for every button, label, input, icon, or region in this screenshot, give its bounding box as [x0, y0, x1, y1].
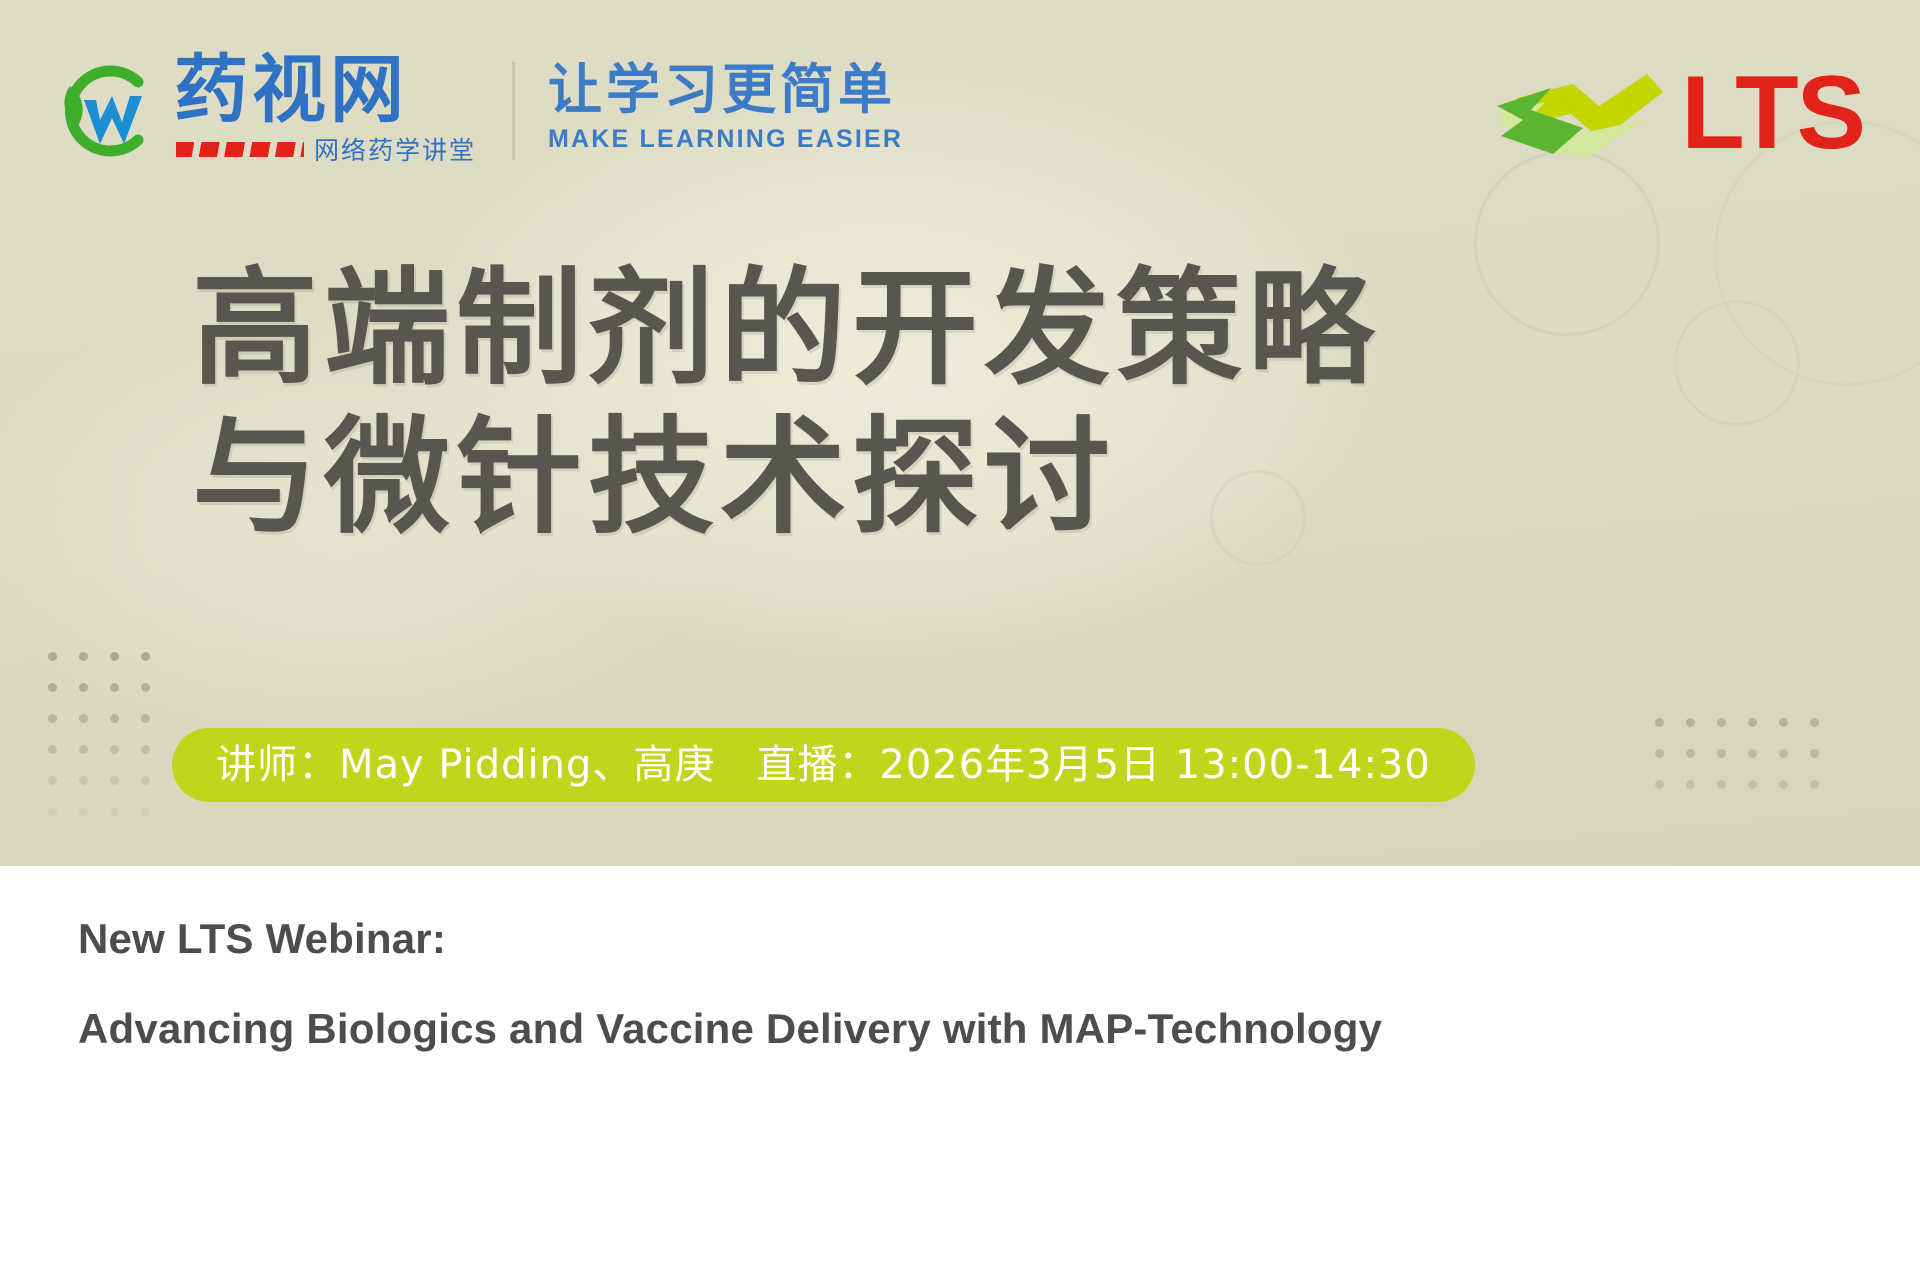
red-bars-icon	[176, 142, 304, 157]
banner-header: 药视网 网络药学讲堂 让学习更简单 MAKE LEARNING EASIER	[0, 0, 1920, 200]
site-subtitle-cn: 网络药学讲堂	[314, 131, 476, 167]
banner-title-block: 高端制剂的开发策略 与微针技术探讨	[192, 255, 1380, 552]
banner-title-line-2: 与微针技术探讨	[192, 404, 1380, 553]
caption-title: Advancing Biologics and Vaccine Delivery…	[78, 1004, 1842, 1054]
webinar-banner: 药视网 网络药学讲堂 让学习更简单 MAKE LEARNING EASIER	[0, 0, 1920, 866]
lts-chevron-leaves-icon	[1495, 58, 1665, 168]
site-name-block: 药视网 网络药学讲堂	[174, 55, 476, 167]
right-dot-grid-decoration	[1655, 718, 1819, 789]
webinar-info-text: 讲师：May Pidding、高庚 直播：2026年3月5日 13:00-14:…	[216, 745, 1431, 785]
leaf-w-logo-icon	[50, 56, 160, 166]
site-name-cn: 药视网	[174, 55, 476, 125]
webinar-info-pill: 讲师：May Pidding、高庚 直播：2026年3月5日 13:00-14:…	[172, 728, 1475, 802]
logo-divider	[512, 62, 515, 160]
caption-section: New LTS Webinar: Advancing Biologics and…	[0, 866, 1920, 1280]
caption-kicker: New LTS Webinar:	[78, 914, 1842, 964]
left-dot-grid-decoration	[48, 652, 150, 816]
site-subtitle-row: 网络药学讲堂	[176, 131, 476, 167]
tagline-block: 让学习更简单 MAKE LEARNING EASIER	[548, 62, 903, 154]
tagline-en: MAKE LEARNING EASIER	[548, 125, 903, 154]
lts-logo[interactable]: LTS	[1495, 58, 1864, 168]
webinar-promo-page: 药视网 网络药学讲堂 让学习更简单 MAKE LEARNING EASIER	[0, 0, 1920, 1280]
lts-wordmark: LTS	[1681, 61, 1864, 165]
tagline-cn: 让学习更简单	[548, 62, 903, 119]
site-logo[interactable]: 药视网 网络药学讲堂	[50, 55, 476, 167]
banner-title-line-1: 高端制剂的开发策略	[192, 255, 1380, 404]
